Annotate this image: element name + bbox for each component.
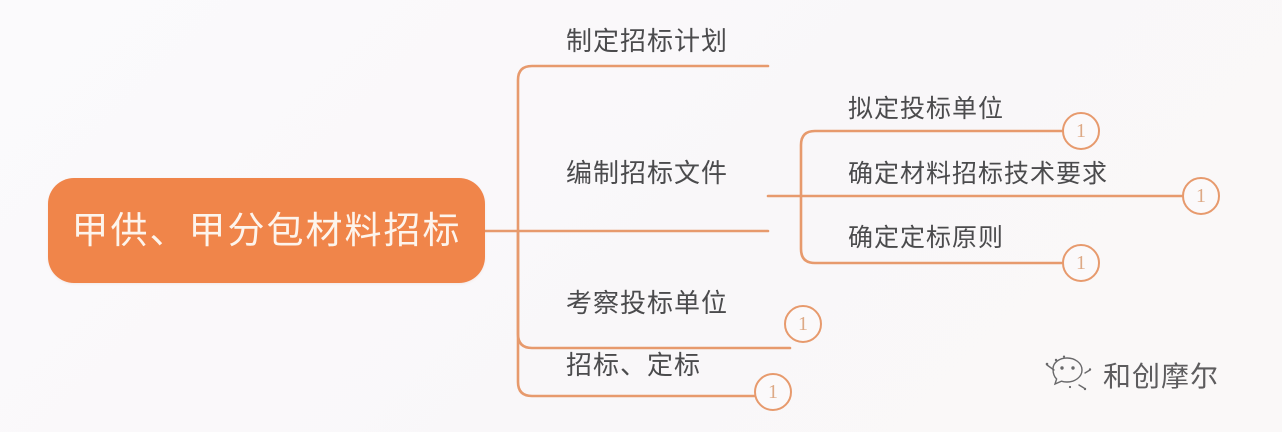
count-badge-value: 1 <box>798 314 808 334</box>
mindmap-canvas: 甲供、甲分包材料招标 制定招标计划 编制招标文件 考察投标单位 招标、定标 拟定… <box>0 0 1282 432</box>
node-label-branch-2[interactable]: 编制招标文件 <box>566 160 728 186</box>
root-node[interactable]: 甲供、甲分包材料招标 <box>48 178 485 283</box>
count-badge-value: 1 <box>1076 253 1086 273</box>
count-badge-value: 1 <box>1076 121 1086 141</box>
count-badge-value: 1 <box>1196 186 1206 206</box>
node-label-branch-2-child-1[interactable]: 拟定投标单位 <box>848 97 1004 122</box>
count-badge-branch-4[interactable]: 1 <box>754 373 792 411</box>
count-badge-branch-2-child-1[interactable]: 1 <box>1062 112 1100 150</box>
node-label-branch-4[interactable]: 招标、定标 <box>566 352 701 378</box>
watermark: 和创摩尔 <box>1044 355 1219 399</box>
node-label-branch-2-child-2[interactable]: 确定材料招标技术要求 <box>848 162 1108 187</box>
count-badge-branch-3[interactable]: 1 <box>784 305 822 343</box>
node-label-branch-3[interactable]: 考察投标单位 <box>566 290 728 316</box>
count-badge-branch-2-child-3[interactable]: 1 <box>1062 244 1100 282</box>
edge-branch-1 <box>518 66 768 231</box>
count-badge-value: 1 <box>768 382 778 402</box>
root-node-label: 甲供、甲分包材料招标 <box>72 212 462 249</box>
count-badge-branch-2-child-2[interactable]: 1 <box>1182 177 1220 215</box>
node-label-branch-2-child-3[interactable]: 确定定标原则 <box>848 226 1004 251</box>
wechat-logo-icon <box>1044 355 1094 399</box>
node-label-branch-1[interactable]: 制定招标计划 <box>566 28 728 54</box>
watermark-text: 和创摩尔 <box>1103 363 1219 391</box>
